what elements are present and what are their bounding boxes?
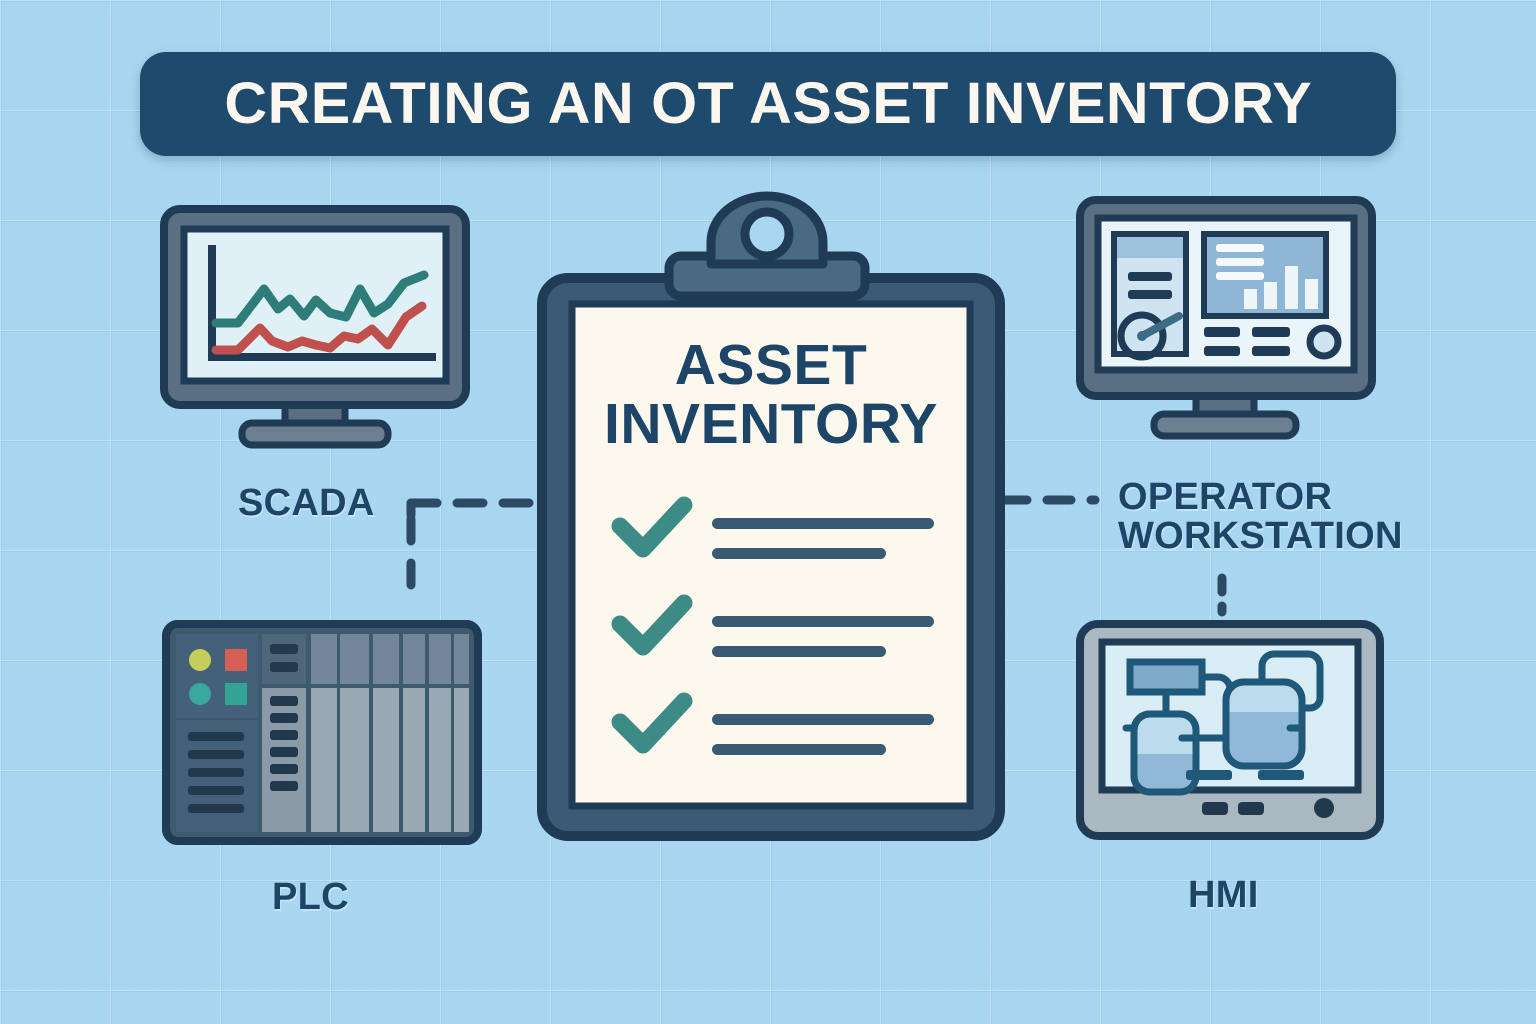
checklist-line (712, 518, 934, 529)
gauge-and-document-panel (1114, 234, 1186, 357)
node-operator-workstation[interactable] (1076, 196, 1376, 452)
label-operator-workstation: OPERATOR WORKSTATION (1118, 478, 1403, 556)
label-operator-line1: OPERATOR (1118, 478, 1403, 517)
hmi-panel-icon (1076, 620, 1384, 840)
bar (1264, 282, 1277, 309)
clip-hole (745, 212, 789, 256)
circular-indicator (1310, 328, 1338, 356)
led-alarm-red (225, 649, 247, 671)
asset-inventory-clipboard[interactable]: ASSET INVENTORY (536, 196, 1006, 844)
clipboard-heading-line2: INVENTORY (536, 395, 1006, 454)
checklist-line (712, 646, 886, 657)
bar (1305, 279, 1318, 309)
checklist-line (712, 714, 934, 725)
connector-scada-to-clipboard (411, 503, 545, 515)
checklist-line (712, 616, 934, 627)
checklist-line (712, 744, 886, 755)
plc-rack-icon (162, 620, 482, 845)
node-plc[interactable] (162, 620, 482, 845)
bar (1285, 266, 1298, 309)
tank-header (1130, 662, 1202, 692)
led-comm-teal (225, 683, 247, 705)
clipboard-heading: ASSET INVENTORY (536, 336, 1006, 455)
clipboard-heading-line1: ASSET (536, 336, 1006, 395)
button-left[interactable] (1202, 802, 1228, 815)
label-scada: SCADA (238, 484, 375, 523)
infographic-root: CREATING AN OT ASSET INVENTORY (0, 0, 1536, 1024)
bar-chart-panel (1204, 234, 1326, 316)
clipboard-icon (536, 196, 1006, 844)
button-right[interactable] (1238, 802, 1264, 815)
label-hmi: HMI (1188, 876, 1259, 915)
status-bar (1186, 770, 1232, 780)
node-hmi[interactable] (1076, 620, 1384, 840)
monitor-with-dashboard-icon (1076, 196, 1376, 452)
bar (1244, 289, 1257, 309)
monitor-with-line-chart-icon (160, 205, 470, 460)
module-slots (311, 634, 469, 832)
led-run-teal (189, 683, 211, 705)
indicator-dot (1314, 798, 1334, 818)
checklist-line (712, 548, 886, 559)
node-scada[interactable] (160, 205, 470, 460)
label-plc: PLC (272, 878, 349, 917)
status-bar (1258, 770, 1304, 780)
led-status-yellow (189, 649, 211, 671)
label-operator-line2: WORKSTATION (1118, 517, 1403, 556)
